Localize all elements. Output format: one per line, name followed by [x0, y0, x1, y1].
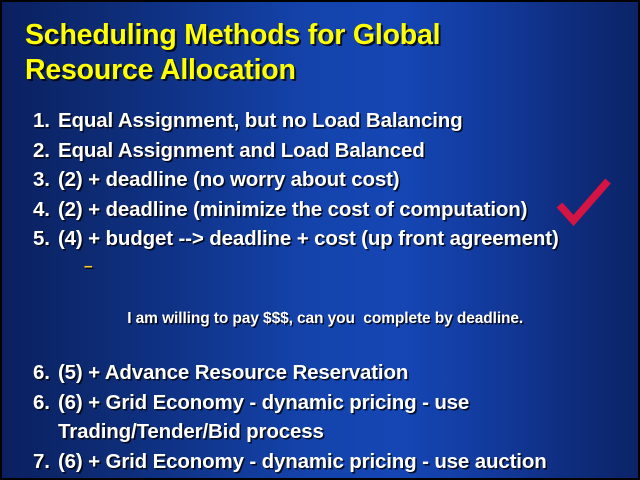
slide-title: Scheduling Methods for Global Resource A… [25, 18, 585, 88]
list-item-number: 2. [33, 136, 50, 166]
sub-list-item: – I am willing to pay $$$, can you compl… [33, 254, 623, 358]
list-item-number: 4. [33, 195, 50, 225]
list-item-number: 5. [33, 224, 50, 254]
list-item-text: (2) + deadline (minimize the cost of com… [58, 195, 623, 225]
list-item-number: 6. [33, 358, 50, 388]
list-item: 6. (6) + Grid Economy - dynamic pricing … [33, 388, 623, 447]
list-item-number: 3. [33, 165, 50, 195]
list-item: 6. (5) + Advance Resource Reservation [33, 358, 623, 388]
list-item-number: 7. [33, 447, 50, 477]
list-item: 7. (6) + Grid Economy - dynamic pricing … [33, 447, 623, 480]
sub-list-item-text: I am willing to pay $$$, can you complet… [127, 310, 523, 327]
title-line-1: Scheduling Methods for Global [25, 18, 585, 53]
list-item-number: 6. [33, 388, 50, 418]
slide-canvas: Scheduling Methods for Global Resource A… [0, 0, 640, 480]
list-item-number: 1. [33, 106, 50, 136]
list-item-text: (4) + budget --> deadline + cost (up fro… [58, 224, 623, 254]
list-item: 2. Equal Assignment and Load Balanced [33, 136, 623, 166]
list-item: 4. (2) + deadline (minimize the cost of … [33, 195, 623, 225]
list-item: 5. (4) + budget --> deadline + cost (up … [33, 224, 623, 254]
list-item-text: (2) + deadline (no worry about cost) [58, 165, 623, 195]
list-item-text: (6) + Grid Economy - dynamic pricing - u… [58, 447, 623, 480]
list-item-text: (6) + Grid Economy - dynamic pricing - u… [58, 388, 623, 447]
slide-body-list: 1. Equal Assignment, but no Load Balanci… [33, 106, 623, 480]
dash-bullet-icon: – [84, 254, 93, 280]
list-item-text: Equal Assignment and Load Balanced [58, 136, 623, 166]
list-item-text: Equal Assignment, but no Load Balancing [58, 106, 623, 136]
title-line-2: Resource Allocation [25, 53, 585, 88]
list-item: 1. Equal Assignment, but no Load Balanci… [33, 106, 623, 136]
list-item-text: (5) + Advance Resource Reservation [58, 358, 623, 388]
list-item: 3. (2) + deadline (no worry about cost) [33, 165, 623, 195]
